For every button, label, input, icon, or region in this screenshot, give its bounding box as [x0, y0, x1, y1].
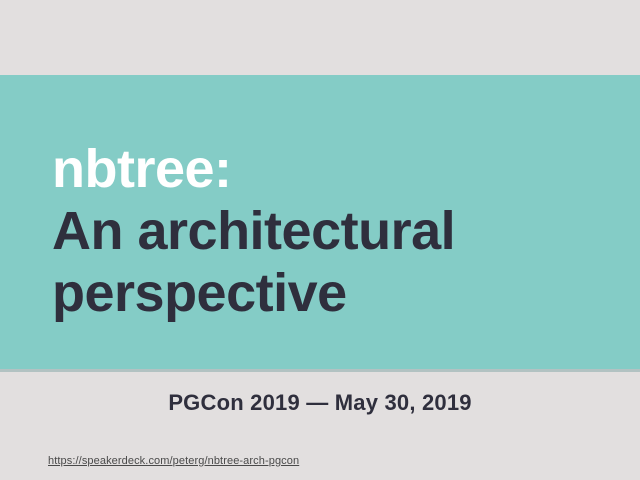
presentation-slide: nbtree: An architectural perspective PGC…	[0, 0, 640, 480]
slide-title: nbtree: An architectural perspective	[52, 138, 612, 324]
title-line-2: An architectural	[52, 200, 612, 262]
title-line-1: nbtree:	[52, 138, 612, 200]
slide-subtitle: PGCon 2019 — May 30, 2019	[0, 390, 640, 416]
band-bottom-divider	[0, 369, 640, 372]
source-link[interactable]: https://speakerdeck.com/peterg/nbtree-ar…	[48, 454, 299, 468]
title-line-3: perspective	[52, 262, 612, 324]
